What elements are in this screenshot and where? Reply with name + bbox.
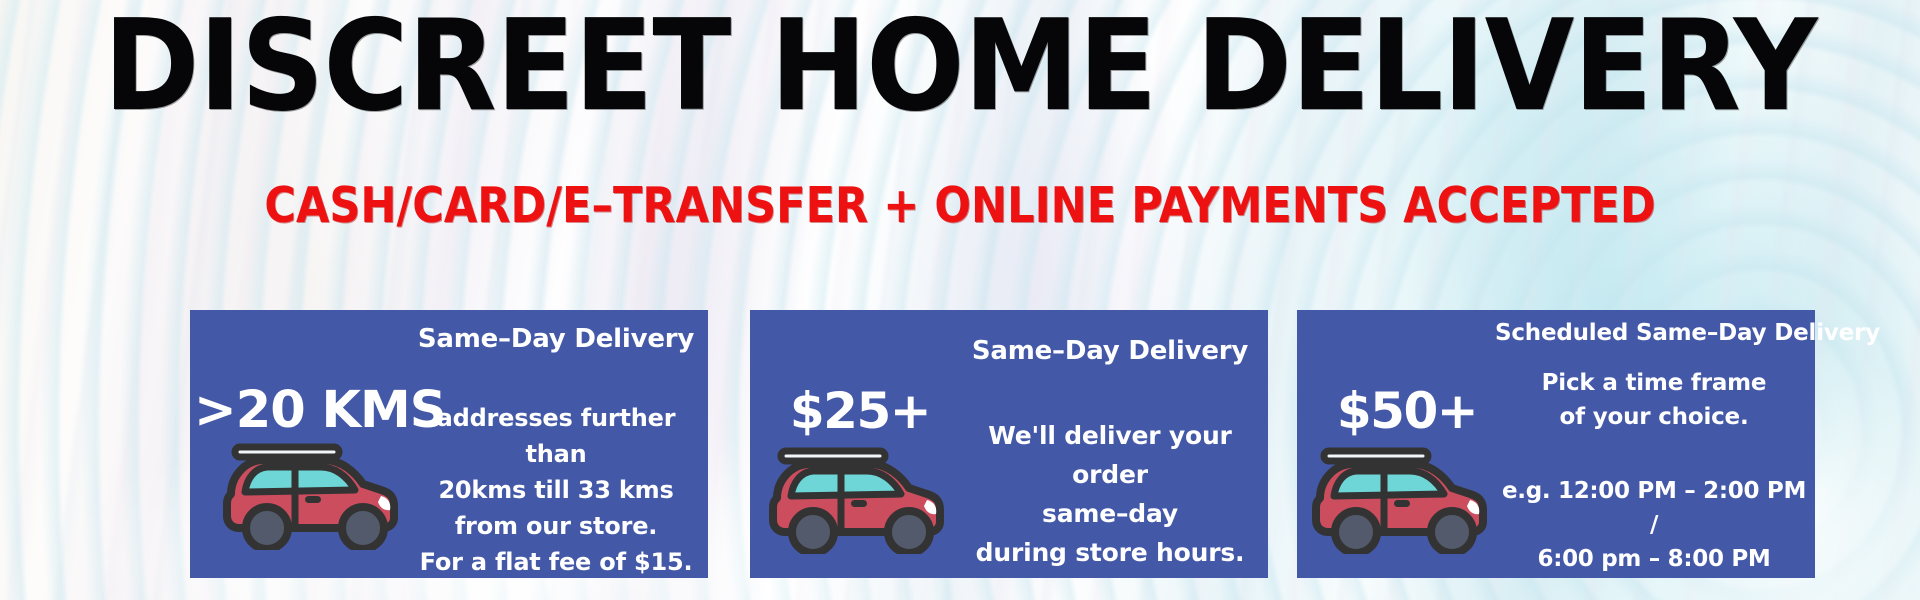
card-text-area: Same–Day Delivery addresses further than…: [406, 310, 706, 578]
card-heading: Same–Day Delivery: [956, 336, 1264, 366]
delivery-card-scheduled-50[interactable]: $50+: [1297, 310, 1815, 578]
delivery-card-minimum-25[interactable]: $25+: [750, 310, 1268, 578]
card-icon-area: >20 KMS: [194, 310, 408, 578]
card-body-line: addresses further than: [406, 400, 706, 472]
card-body-line: 20kms till 33 kms: [406, 472, 706, 508]
card-body-line: of your choice.: [1495, 400, 1813, 434]
card-body: addresses further than 20kms till 33 kms…: [406, 400, 706, 580]
card-heading: Scheduled Same–Day Delivery: [1495, 318, 1813, 348]
card-body-line: Pick a time frame: [1495, 366, 1813, 400]
card-icon-area: $50+: [1307, 310, 1507, 578]
car-icon: [221, 438, 399, 550]
card-text-area: Scheduled Same–Day Delivery Pick a time …: [1495, 310, 1813, 578]
distance-badge: >20 KMS: [194, 386, 408, 436]
price-badge: $50+: [1307, 386, 1507, 436]
card-body-line: during store hours.: [956, 533, 1264, 572]
card-icon-area: $25+: [760, 310, 960, 578]
card-body-line: from our store.: [406, 508, 706, 544]
car-icon: [767, 442, 945, 554]
banner-headline: DISCREET HOME DELIVERY: [77, 6, 1843, 126]
car-icon: [1310, 442, 1488, 554]
delivery-card-distance[interactable]: >20 KMS: [190, 310, 708, 578]
card-body: We'll deliver your order same–day during…: [956, 416, 1264, 572]
card-note-line: e.g. 12:00 PM – 2:00 PM /: [1495, 474, 1813, 542]
card-body: Pick a time frame of your choice.: [1495, 366, 1813, 434]
card-note-line: 6:00 pm – 8:00 PM: [1495, 542, 1813, 576]
card-example-times: e.g. 12:00 PM – 2:00 PM / 6:00 pm – 8:00…: [1495, 474, 1813, 576]
delivery-options-row: >20 KMS: [0, 310, 1920, 580]
card-body-line: same–day: [956, 494, 1264, 533]
card-text-area: Same–Day Delivery We'll deliver your ord…: [956, 310, 1264, 578]
card-body-line: We'll deliver your order: [956, 416, 1264, 494]
card-heading: Same–Day Delivery: [406, 324, 706, 354]
promo-banner: DISCREET HOME DELIVERY CASH/CARD/E–TRANS…: [0, 0, 1920, 600]
card-body-line: For a flat fee of $15.: [406, 544, 706, 580]
payment-methods-subtitle: CASH/CARD/E–TRANSFER + ONLINE PAYMENTS A…: [115, 178, 1805, 234]
price-badge: $25+: [760, 386, 960, 436]
